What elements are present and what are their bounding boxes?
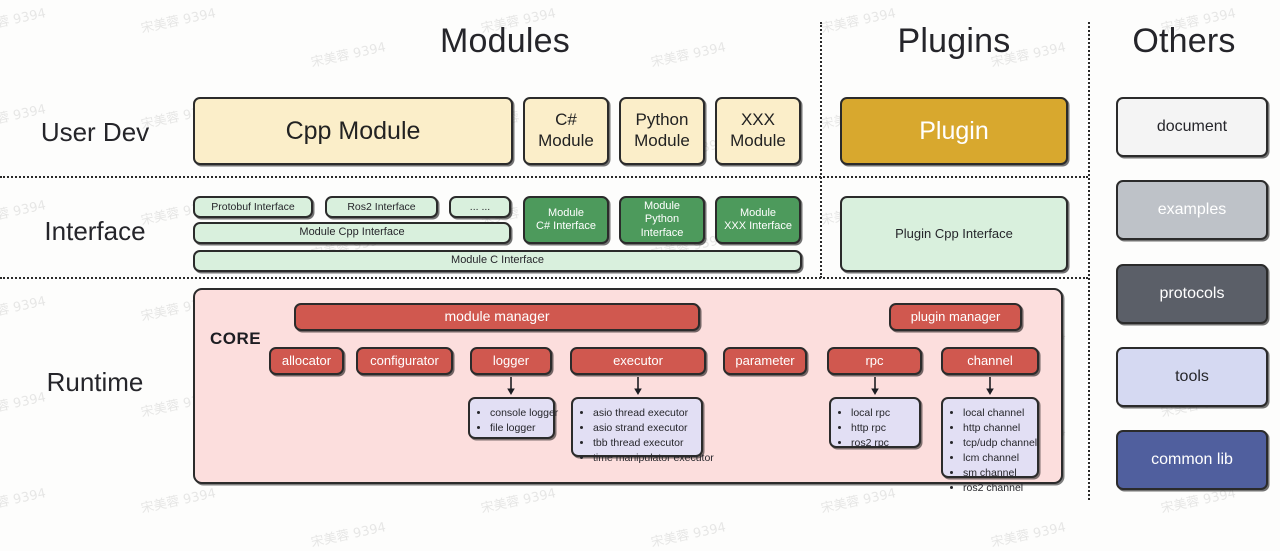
runtime-component-allocator[interactable]: allocator bbox=[269, 347, 344, 375]
architecture-diagram: 宋美蓉 9394宋美蓉 9394宋美蓉 9394宋美蓉 9394宋美蓉 9394… bbox=[0, 0, 1280, 519]
interface-module-c[interactable]: Module C Interface bbox=[193, 250, 802, 272]
runtime-component-allocator-label: allocator bbox=[278, 353, 335, 369]
runtime-sublist-rpc-items: local rpchttp rpcros2 rpc bbox=[837, 406, 911, 451]
others-item-tools[interactable]: tools bbox=[1116, 347, 1268, 407]
others-item-protocols-label: protocols bbox=[1156, 284, 1229, 304]
list-item: sm channel bbox=[963, 466, 1029, 481]
user-dev-python-module[interactable]: PythonModule bbox=[619, 97, 705, 165]
runtime-sublist-logger: console loggerfile logger bbox=[468, 397, 555, 439]
user-dev-python-module-label: PythonModule bbox=[630, 110, 694, 151]
user-dev-cpp-module-label: Cpp Module bbox=[282, 116, 425, 147]
list-item: ros2 rpc bbox=[851, 436, 911, 451]
others-item-common-lib-label: common lib bbox=[1147, 450, 1237, 470]
list-item: tbb thread executor bbox=[593, 436, 693, 451]
arrow-down-icon-executor bbox=[631, 377, 645, 395]
interface-protobuf[interactable]: Protobuf Interface bbox=[193, 196, 313, 218]
watermark-text: 宋美蓉 9394 bbox=[649, 516, 728, 550]
watermark-text: 宋美蓉 9394 bbox=[819, 482, 898, 516]
arrow-down-icon-logger bbox=[504, 377, 518, 395]
separator-interface-runtime bbox=[0, 277, 1088, 279]
list-item: tcp/udp channel bbox=[963, 436, 1029, 451]
arrow-down-icon-channel bbox=[983, 377, 997, 395]
others-item-document-label: document bbox=[1153, 117, 1231, 137]
interface-module-python-label: ModulePython Interface bbox=[621, 200, 703, 240]
column-header-others: Others bbox=[1088, 24, 1280, 58]
arrow-down-icon-rpc bbox=[868, 377, 882, 395]
list-item: time manipulator executor bbox=[593, 451, 693, 466]
runtime-plugin-manager-label: plugin manager bbox=[907, 309, 1005, 325]
runtime-component-rpc-label: rpc bbox=[861, 353, 887, 369]
runtime-component-logger-label: logger bbox=[489, 353, 533, 369]
user-dev-csharp-module[interactable]: C#Module bbox=[523, 97, 609, 165]
interface-plugin-cpp-label: Plugin Cpp Interface bbox=[891, 226, 1017, 242]
list-item: http rpc bbox=[851, 421, 911, 436]
watermark-text: 宋美蓉 9394 bbox=[0, 482, 47, 516]
runtime-module-manager[interactable]: module manager bbox=[294, 303, 700, 331]
runtime-plugin-manager[interactable]: plugin manager bbox=[889, 303, 1022, 331]
runtime-component-rpc[interactable]: rpc bbox=[827, 347, 922, 375]
interface-plugin-cpp[interactable]: Plugin Cpp Interface bbox=[840, 196, 1068, 272]
watermark-text: 宋美蓉 9394 bbox=[309, 516, 388, 550]
separator-modules-plugins bbox=[820, 22, 822, 278]
watermark-text: 宋美蓉 9394 bbox=[989, 516, 1068, 550]
interface-ros2-label: Ros2 Interface bbox=[343, 201, 419, 214]
user-dev-cpp-module[interactable]: Cpp Module bbox=[193, 97, 513, 165]
user-dev-plugin-label: Plugin bbox=[915, 116, 993, 147]
interface-protobuf-label: Protobuf Interface bbox=[207, 201, 298, 214]
interface-module-csharp-label: ModuleC# Interface bbox=[532, 207, 600, 234]
interface-ellipsis[interactable]: ... ... bbox=[449, 196, 511, 218]
watermark-text: 宋美蓉 9394 bbox=[139, 482, 218, 516]
others-item-tools-label: tools bbox=[1171, 367, 1213, 387]
list-item: ros2 channel bbox=[963, 481, 1029, 496]
runtime-sublist-executor: asio thread executorasio strand executor… bbox=[571, 397, 703, 457]
list-item: asio strand executor bbox=[593, 421, 693, 436]
runtime-component-channel-label: channel bbox=[963, 353, 1017, 369]
list-item: http channel bbox=[963, 421, 1029, 436]
user-dev-plugin[interactable]: Plugin bbox=[840, 97, 1068, 165]
runtime-component-parameter[interactable]: parameter bbox=[723, 347, 807, 375]
runtime-component-configurator[interactable]: configurator bbox=[356, 347, 453, 375]
interface-module-xxx-label: ModuleXXX Interface bbox=[720, 207, 796, 234]
list-item: local rpc bbox=[851, 406, 911, 421]
others-item-document[interactable]: document bbox=[1116, 97, 1268, 157]
others-item-common-lib[interactable]: common lib bbox=[1116, 430, 1268, 490]
list-item: file logger bbox=[490, 421, 545, 436]
runtime-component-channel[interactable]: channel bbox=[941, 347, 1039, 375]
list-item: console logger bbox=[490, 406, 545, 421]
column-header-plugins: Plugins bbox=[820, 24, 1088, 58]
user-dev-xxx-module-label: XXXModule bbox=[726, 110, 790, 151]
interface-module-xxx[interactable]: ModuleXXX Interface bbox=[715, 196, 801, 244]
runtime-component-executor-label: executor bbox=[609, 353, 667, 369]
others-item-examples-label: examples bbox=[1154, 200, 1230, 220]
column-header-modules: Modules bbox=[190, 24, 820, 58]
list-item: local channel bbox=[963, 406, 1029, 421]
interface-module-python[interactable]: ModulePython Interface bbox=[619, 196, 705, 244]
watermark-text: 宋美蓉 9394 bbox=[0, 2, 47, 36]
interface-module-cpp[interactable]: Module Cpp Interface bbox=[193, 222, 511, 244]
interface-module-c-label: Module C Interface bbox=[447, 254, 548, 267]
interface-module-cpp-label: Module Cpp Interface bbox=[295, 226, 408, 239]
row-label-interface: Interface bbox=[0, 218, 190, 244]
interface-module-csharp[interactable]: ModuleC# Interface bbox=[523, 196, 609, 244]
separator-userdev-interface bbox=[0, 176, 1088, 178]
runtime-module-manager-label: module manager bbox=[440, 308, 553, 325]
watermark-text: 宋美蓉 9394 bbox=[0, 290, 47, 324]
separator-plugins-others bbox=[1088, 22, 1090, 500]
others-item-protocols[interactable]: protocols bbox=[1116, 264, 1268, 324]
row-label-runtime: Runtime bbox=[0, 369, 190, 395]
runtime-component-configurator-label: configurator bbox=[366, 353, 443, 369]
interface-ros2[interactable]: Ros2 Interface bbox=[325, 196, 438, 218]
list-item: asio thread executor bbox=[593, 406, 693, 421]
runtime-sublist-channel-items: local channelhttp channeltcp/udp channel… bbox=[949, 406, 1029, 496]
others-item-examples[interactable]: examples bbox=[1116, 180, 1268, 240]
user-dev-csharp-module-label: C#Module bbox=[534, 110, 598, 151]
runtime-sublist-logger-items: console loggerfile logger bbox=[476, 406, 545, 436]
runtime-component-executor[interactable]: executor bbox=[570, 347, 706, 375]
runtime-component-logger[interactable]: logger bbox=[470, 347, 552, 375]
core-label: CORE bbox=[210, 329, 261, 349]
list-item: lcm channel bbox=[963, 451, 1029, 466]
runtime-component-parameter-label: parameter bbox=[731, 353, 798, 369]
user-dev-xxx-module[interactable]: XXXModule bbox=[715, 97, 801, 165]
watermark-text: 宋美蓉 9394 bbox=[479, 482, 558, 516]
interface-ellipsis-label: ... ... bbox=[466, 201, 494, 214]
runtime-sublist-channel: local channelhttp channeltcp/udp channel… bbox=[941, 397, 1039, 478]
runtime-sublist-executor-items: asio thread executorasio strand executor… bbox=[579, 406, 693, 466]
row-label-user-dev: User Dev bbox=[0, 119, 190, 145]
runtime-sublist-rpc: local rpchttp rpcros2 rpc bbox=[829, 397, 921, 448]
